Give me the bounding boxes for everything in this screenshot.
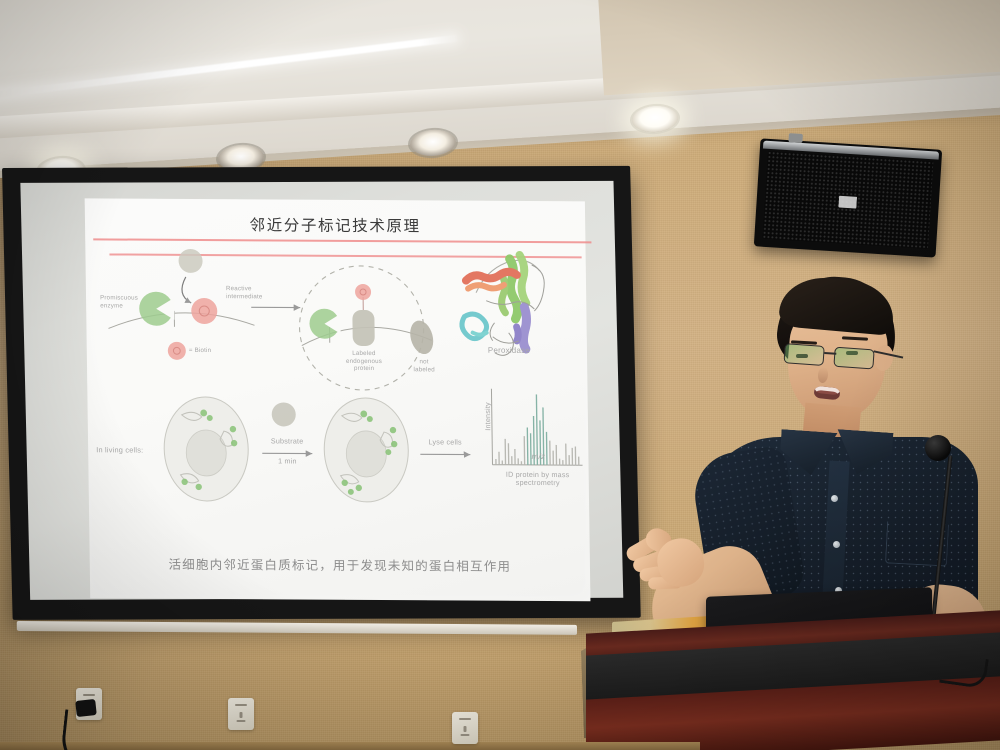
not-labeled-label: not labeled [403, 358, 445, 373]
ms-bar [508, 443, 510, 465]
ms-bar [514, 449, 516, 465]
ms-xaxis-label: m/z [518, 453, 558, 461]
promiscuous-enzyme-label: Promiscuous enzyme [100, 294, 160, 309]
ms-bar [504, 439, 506, 465]
substrate-time-label: 1 min [256, 457, 318, 465]
projected-slide: 邻近分子标记技术原理 [85, 198, 591, 601]
ms-bar [498, 452, 500, 465]
wall-outlet-2[interactable] [228, 698, 254, 730]
glasses-temple [874, 350, 904, 358]
shirt-button-2 [833, 541, 840, 548]
glasses-lens-right [833, 347, 874, 370]
glasses-bridge [824, 352, 836, 355]
reactive-intermediate-label: Reactive intermediate [226, 285, 288, 300]
wall-speaker [754, 138, 942, 257]
ms-bar [521, 461, 522, 465]
ms-caption-label: ID protein by mass spectrometry [485, 471, 591, 487]
ms-bar [502, 460, 503, 464]
in-living-cells-label: In living cells: [96, 446, 166, 454]
peroxidase-label: Peroxidase [469, 347, 549, 355]
labeled-endogenous-protein-label: Labeled endogenous protein [331, 350, 397, 373]
slide-diagram [85, 198, 591, 601]
ms-bar [559, 459, 560, 465]
ms-bar [495, 459, 496, 465]
lecture-room-photo: 邻近分子标记技术原理 [0, 0, 1000, 750]
ms-bar [568, 455, 569, 465]
ms-yaxis-label: Intensity [484, 386, 492, 446]
ms-bar [578, 457, 579, 466]
power-cord [59, 709, 119, 750]
biotin-legend-label: = Biotin [189, 347, 233, 355]
lyse-cells-label: Lyse cells [414, 438, 476, 446]
substrate-label: Substrate [256, 437, 318, 445]
jbl-logo-icon [838, 196, 857, 209]
shirt-button-1 [831, 495, 838, 502]
podium [586, 600, 1000, 750]
ms-bar [575, 446, 577, 465]
screen-surface: 邻近分子标记技术原理 [20, 181, 623, 600]
speaker-mount-bracket [788, 133, 803, 143]
ms-bar [565, 444, 567, 466]
ms-bar [511, 456, 512, 465]
ms-bar [572, 448, 574, 465]
glasses-lens-left [784, 343, 825, 366]
ms-bar [562, 460, 563, 465]
slide-caption: 活细胞内邻近蛋白质标记，用于发现未知的蛋白相互作用 [90, 553, 590, 575]
wall-outlet-3[interactable] [452, 712, 478, 744]
presenter-hair-front [778, 274, 896, 336]
projection-screen: 邻近分子标记技术原理 [2, 166, 641, 620]
ms-bar [524, 436, 526, 465]
microphone-head-icon [925, 435, 951, 461]
